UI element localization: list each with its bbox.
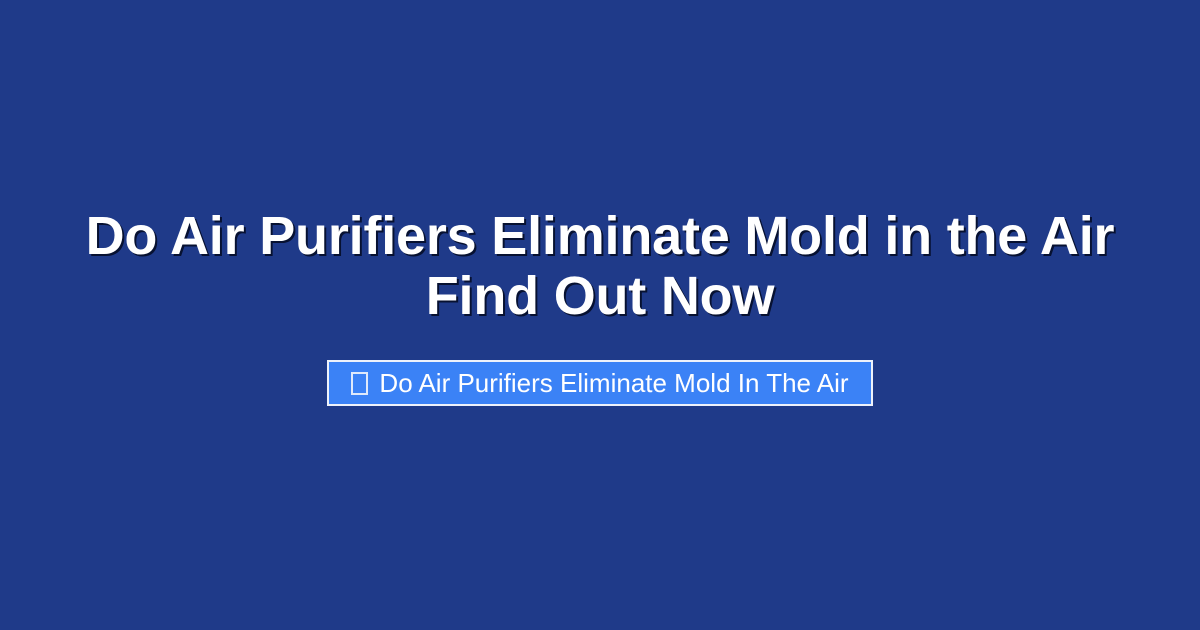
page-title: Do Air Purifiers Eliminate Mold in the A…: [60, 206, 1140, 327]
social-share-card: Do Air Purifiers Eliminate Mold in the A…: [0, 0, 1200, 630]
cta-button-label: Do Air Purifiers Eliminate Mold In The A…: [379, 370, 848, 396]
card-content-stack: Do Air Purifiers Eliminate Mold in the A…: [50, 206, 1150, 407]
cta-button[interactable]: Do Air Purifiers Eliminate Mold In The A…: [327, 360, 872, 406]
missing-glyph-box-icon: [351, 372, 368, 395]
